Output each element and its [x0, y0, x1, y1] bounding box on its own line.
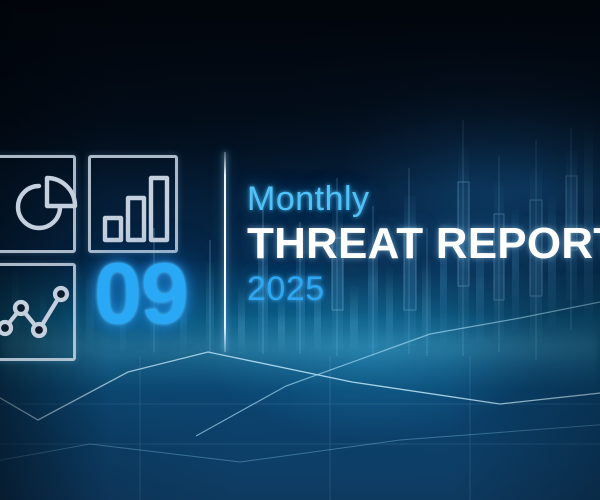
month-number: 09 — [94, 251, 188, 337]
vertical-divider — [224, 152, 226, 352]
line-chart-icon — [0, 263, 76, 361]
bar-chart-icon — [88, 155, 178, 253]
title-block: Monthly THREAT REPORT 2025 — [247, 182, 600, 307]
year-text: 2025 — [247, 272, 600, 308]
eyebrow-text: Monthly — [247, 182, 600, 218]
pie-chart-icon — [0, 155, 76, 253]
page-title: THREAT REPORT — [247, 222, 600, 266]
threat-report-poster: 09 Monthly THREAT REPORT 2025 — [0, 0, 600, 500]
